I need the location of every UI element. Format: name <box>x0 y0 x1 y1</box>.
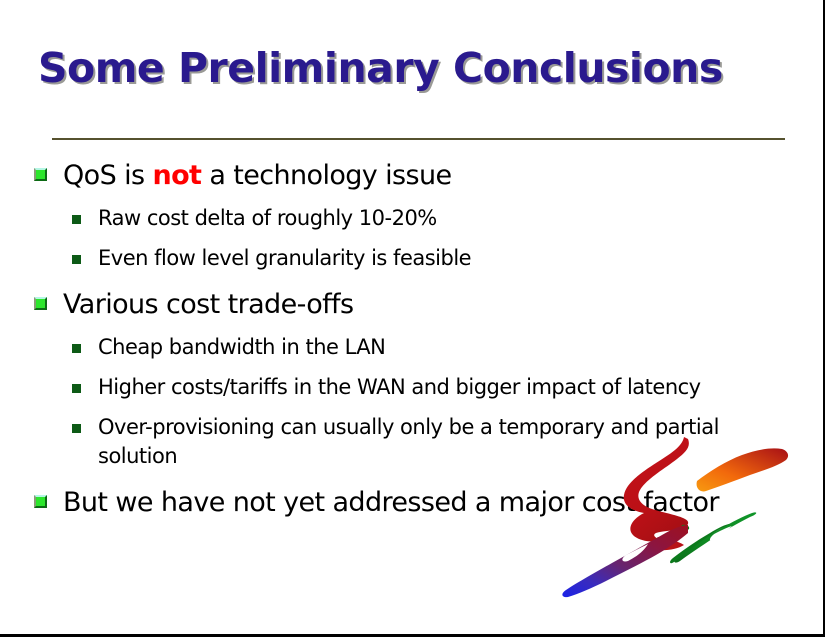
bullet-raw-cost-delta: Raw cost delta of roughly 10-20% <box>62 204 730 233</box>
bullet-diamond-icon <box>34 297 47 310</box>
bullet-higher-costs-wan: Higher costs/tariffs in the WAN and bigg… <box>62 373 730 402</box>
bullet-square-icon <box>72 255 81 264</box>
bullet-qos-not-technology-issue: QoS is not a technology issue <box>30 158 730 193</box>
spacer <box>30 275 730 287</box>
bullet-various-cost-trade-offs: Various cost trade-offs <box>30 287 730 322</box>
bullet-label: Various cost trade-offs <box>63 289 353 320</box>
bullet-label: But we have not yet addressed a major co… <box>63 487 719 518</box>
swoosh-stroke-purple-blue <box>562 525 688 597</box>
swoosh-stroke-red-tail <box>653 537 684 550</box>
bullet-diamond-icon <box>34 168 47 181</box>
bullet-square-icon <box>72 384 81 393</box>
swoosh-fleck-green <box>681 525 689 530</box>
bullet-list: QoS is not a technology issue Raw cost d… <box>30 158 730 522</box>
slide: Some Preliminary Conclusions QoS is not … <box>0 0 825 637</box>
bullet-diamond-icon <box>34 495 47 508</box>
bullet-over-provisioning: Over-provisioning can usually only be a … <box>62 413 730 471</box>
spacer <box>30 473 730 485</box>
bullet-square-icon <box>72 424 81 433</box>
title-divider-rule <box>52 138 785 140</box>
spacer <box>30 235 730 244</box>
spacer <box>30 195 730 204</box>
page-title: Some Preliminary Conclusions <box>38 40 778 100</box>
bullet-label: Cheap bandwidth in the LAN <box>98 335 385 359</box>
spacer <box>30 404 730 413</box>
bullet-label: Over-provisioning can usually only be a … <box>98 415 719 468</box>
bullet-cheap-bandwidth-lan: Cheap bandwidth in the LAN <box>62 333 730 362</box>
bullet-major-cost-factor: But we have not yet addressed a major co… <box>30 485 730 520</box>
bullet-flow-level-granularity: Even flow level granularity is feasible <box>62 244 730 273</box>
spacer <box>30 324 730 333</box>
bullet-square-icon <box>72 215 81 224</box>
bullet-label: Higher costs/tariffs in the WAN and bigg… <box>98 375 701 399</box>
swoosh-stroke-green-2 <box>670 524 730 563</box>
bullet-square-icon <box>72 344 81 353</box>
bullet-label: Raw cost delta of roughly 10-20% <box>98 206 437 230</box>
bullet-text-part-1: QoS is <box>63 160 152 191</box>
bullet-text-part-2: a technology issue <box>201 160 451 191</box>
bullet-emphasis-not: not <box>152 160 201 191</box>
swoosh-highlight-green <box>710 526 732 540</box>
bullet-label: Even flow level granularity is feasible <box>98 246 471 270</box>
swoosh-highlight <box>622 544 648 562</box>
spacer <box>30 364 730 373</box>
